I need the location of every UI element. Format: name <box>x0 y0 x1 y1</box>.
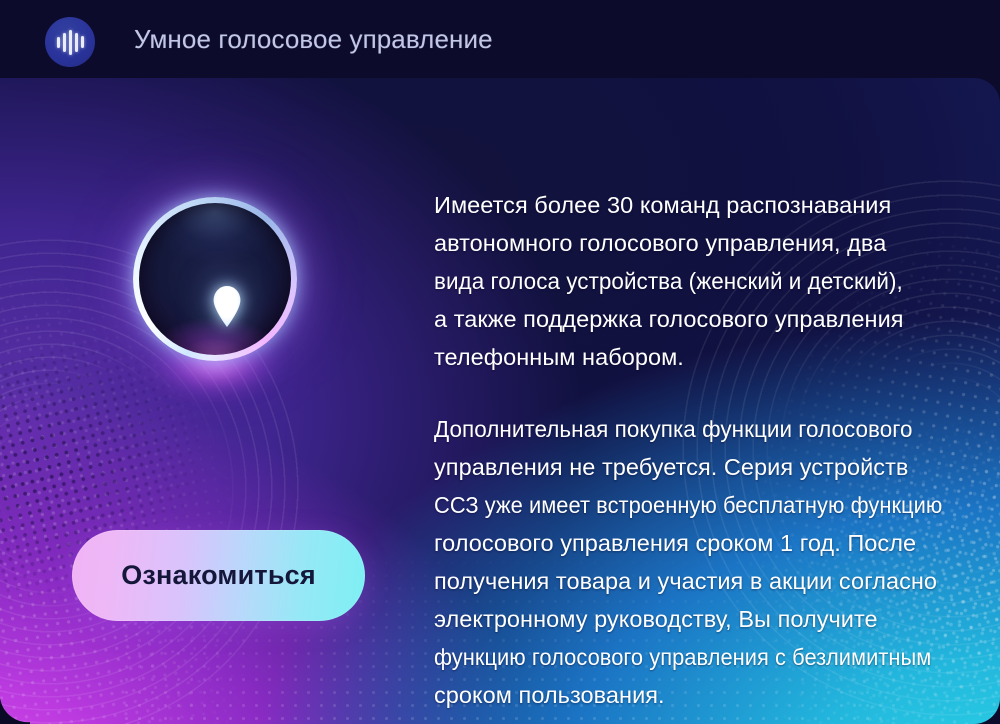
paragraph-1-line-5: телефонным набором. <box>434 344 684 370</box>
orb-ring <box>133 197 297 361</box>
paragraph-1-line-1: Имеется более 30 команд распознавания <box>434 192 891 218</box>
content-card: Ознакомиться Имеется более 30 команд рас… <box>0 78 1000 724</box>
paragraph-2-line-8: сроком пользования. <box>434 682 665 708</box>
paragraph-2: Дополнительная покупка функции голосовог… <box>434 410 986 714</box>
description-text-block: Имеется более 30 команд распознавания ав… <box>434 186 986 714</box>
waveform-bar-5 <box>81 36 84 48</box>
header-bar: Умное голосовое управление <box>0 0 1000 78</box>
waveform-bar-2 <box>63 33 66 52</box>
waveform-bar-4 <box>75 33 78 52</box>
paragraph-2-line-4: голосового управления сроком 1 год. Посл… <box>434 530 916 556</box>
audio-waveform-icon <box>45 17 95 67</box>
page-title: Умное голосовое управление <box>134 0 493 78</box>
voice-pin-icon <box>212 285 242 327</box>
paragraph-2-line-5: получения товара и участия в акции согла… <box>434 568 937 594</box>
paragraph-1-line-3: вида голоса устройства (женский и детски… <box>434 262 961 300</box>
card-bottom-left-corner <box>0 694 30 724</box>
paragraph-spacer <box>434 376 986 410</box>
paragraph-2-line-1: Дополнительная покупка функции голосовог… <box>434 410 961 448</box>
paragraph-2-line-7: функцию голосового управления с безлимит… <box>434 638 947 676</box>
paragraph-2-line-6: электронному руководству, Вы получите <box>434 606 878 632</box>
paragraph-1-line-2: автономного голосового управления, два <box>434 230 886 256</box>
promo-slide: Умное голосовое управление <box>0 0 1000 724</box>
paragraph-1: Имеется более 30 команд распознавания ав… <box>434 186 986 376</box>
learn-more-button[interactable]: Ознакомиться <box>72 530 365 621</box>
waveform-bar-1 <box>57 37 60 48</box>
paragraph-1-line-4: а также поддержка голосового управления <box>434 306 904 332</box>
orb-inner-sphere <box>139 203 291 355</box>
paragraph-2-line-3: ССЗ уже имеет встроенную бесплатную функ… <box>434 486 947 524</box>
voice-assistant-orb <box>125 191 305 391</box>
paragraph-2-line-2: управления не требуется. Серия устройств <box>434 454 908 480</box>
waveform-bar-3 <box>69 30 72 55</box>
